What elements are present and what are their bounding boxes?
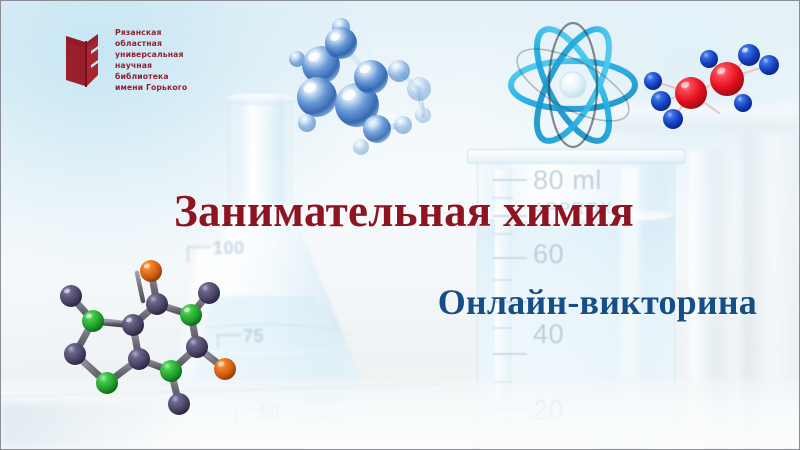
nitrogen-atom bbox=[160, 360, 182, 382]
logo-line-5: библиотека bbox=[115, 72, 187, 83]
logo-line-2: областная bbox=[115, 39, 187, 50]
library-logo[interactable]: Рязанская областная универсальная научна… bbox=[64, 28, 187, 94]
beaker-graduation-40: 40 bbox=[533, 319, 564, 350]
beaker-graduation-60: 60 bbox=[533, 239, 564, 270]
red-blue-molecule-graphic bbox=[631, 15, 800, 161]
logo-line-4: научная bbox=[115, 61, 187, 72]
logo-line-1: Рязанская bbox=[115, 28, 187, 39]
logo-text-block: Рязанская областная универсальная научна… bbox=[115, 28, 187, 94]
poster-subtitle: Онлайн-викторина bbox=[438, 284, 757, 320]
caffeine-molecule-graphic bbox=[29, 249, 239, 427]
beaker-tick bbox=[493, 179, 527, 181]
oxygen-atom bbox=[214, 358, 236, 380]
nitrogen-atom bbox=[82, 310, 104, 332]
blue-molecule-graphic bbox=[273, 13, 441, 161]
open-book-logo-icon bbox=[64, 30, 108, 92]
oxygen-atom bbox=[140, 260, 162, 282]
poster-title: Занимательная химия bbox=[1, 189, 800, 234]
beaker-tick bbox=[493, 257, 527, 259]
carbon-atom bbox=[60, 285, 82, 307]
nitrogen-atom bbox=[96, 372, 118, 394]
carbon-atom bbox=[146, 293, 168, 315]
flask-graduation-75: 75 bbox=[243, 326, 264, 347]
logo-line-3: универсальная bbox=[115, 50, 187, 61]
beaker-tick bbox=[493, 279, 513, 281]
carbon-atom bbox=[186, 336, 208, 358]
carbon-atom bbox=[198, 282, 220, 304]
carbon-atom bbox=[64, 343, 86, 365]
carbon-atom bbox=[168, 393, 190, 415]
poster-slide: 100 75 50 80 ml APPROX. 60 bbox=[0, 0, 800, 450]
logo-line-6: имени Горького bbox=[115, 83, 187, 94]
beaker-tick bbox=[493, 327, 513, 329]
beaker-tick bbox=[493, 353, 527, 355]
nitrogen-atom bbox=[180, 304, 202, 326]
carbon-atom bbox=[122, 314, 144, 336]
carbon-atom bbox=[128, 348, 150, 370]
